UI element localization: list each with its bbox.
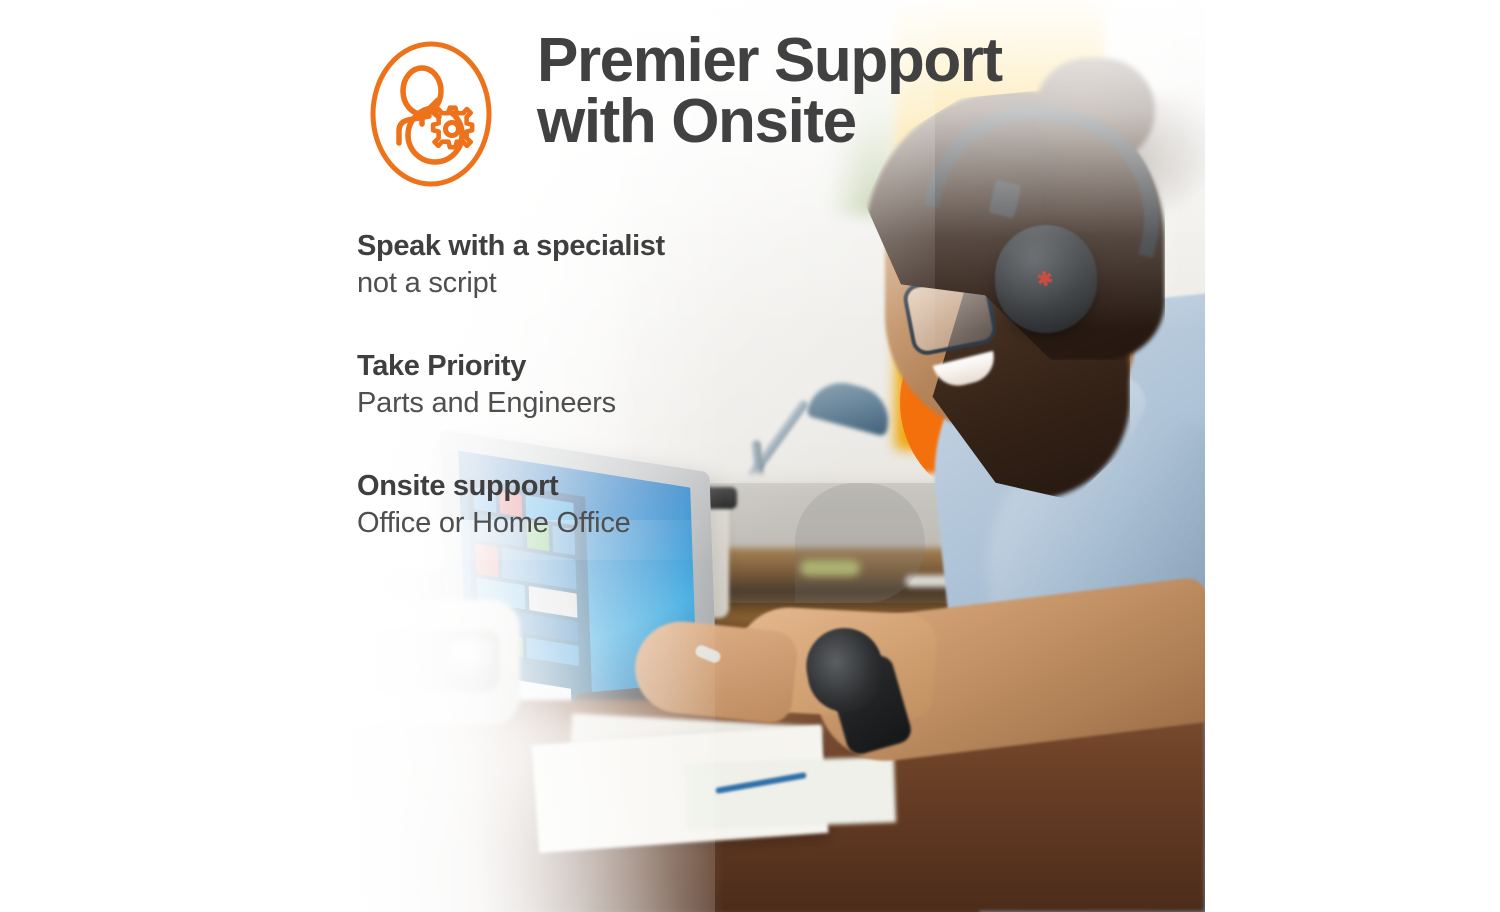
feature-block-priority: Take Priority Parts and Engineers	[357, 349, 997, 423]
feature-subtitle: not a script	[357, 264, 997, 303]
user-gear-refresh-icon	[367, 38, 495, 190]
page-title: Premier Support with Onsite	[537, 31, 1137, 153]
feature-block-specialist: Speak with a specialist not a script	[357, 229, 997, 303]
feature-title: Speak with a specialist	[357, 229, 997, 264]
feature-subtitle: Office or Home Office	[357, 504, 997, 543]
feature-block-onsite: Onsite support Office or Home Office	[357, 469, 997, 543]
promo-poster: ✱	[0, 0, 1500, 912]
content-layer: Premier Support with Onsite Speak with a…	[0, 0, 1500, 912]
feature-subtitle: Parts and Engineers	[357, 384, 997, 423]
feature-title: Onsite support	[357, 469, 997, 504]
headline-line-1: Premier Support	[537, 31, 1137, 92]
feature-title: Take Priority	[357, 349, 997, 384]
headline-line-2: with Onsite	[537, 92, 1137, 153]
